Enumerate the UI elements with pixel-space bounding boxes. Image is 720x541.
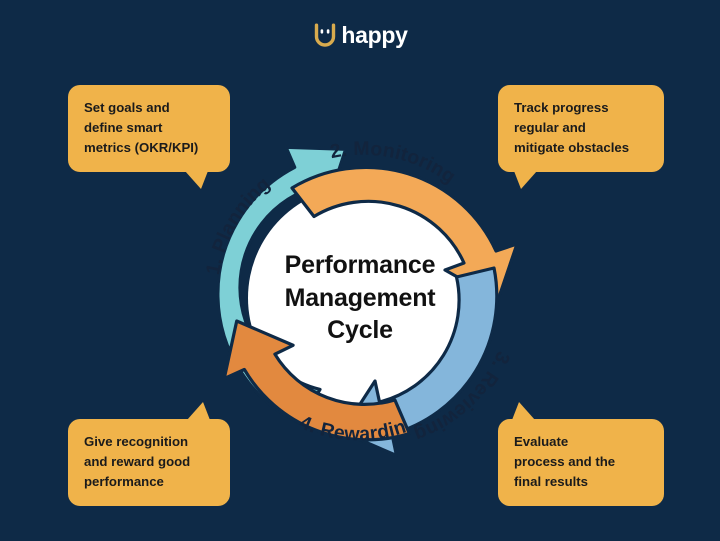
performance-management-cycle-diagram: 1. Planning 2. Monitoring 3. Reviewing 4… xyxy=(180,118,540,478)
happy-smiley-logo-icon xyxy=(312,22,338,48)
callout-monitoring-line-1: Track progress xyxy=(514,98,648,118)
brand-logo: happy xyxy=(0,22,720,48)
brand-name: happy xyxy=(341,24,407,47)
callout-planning-line-1: Set goals and xyxy=(84,98,214,118)
